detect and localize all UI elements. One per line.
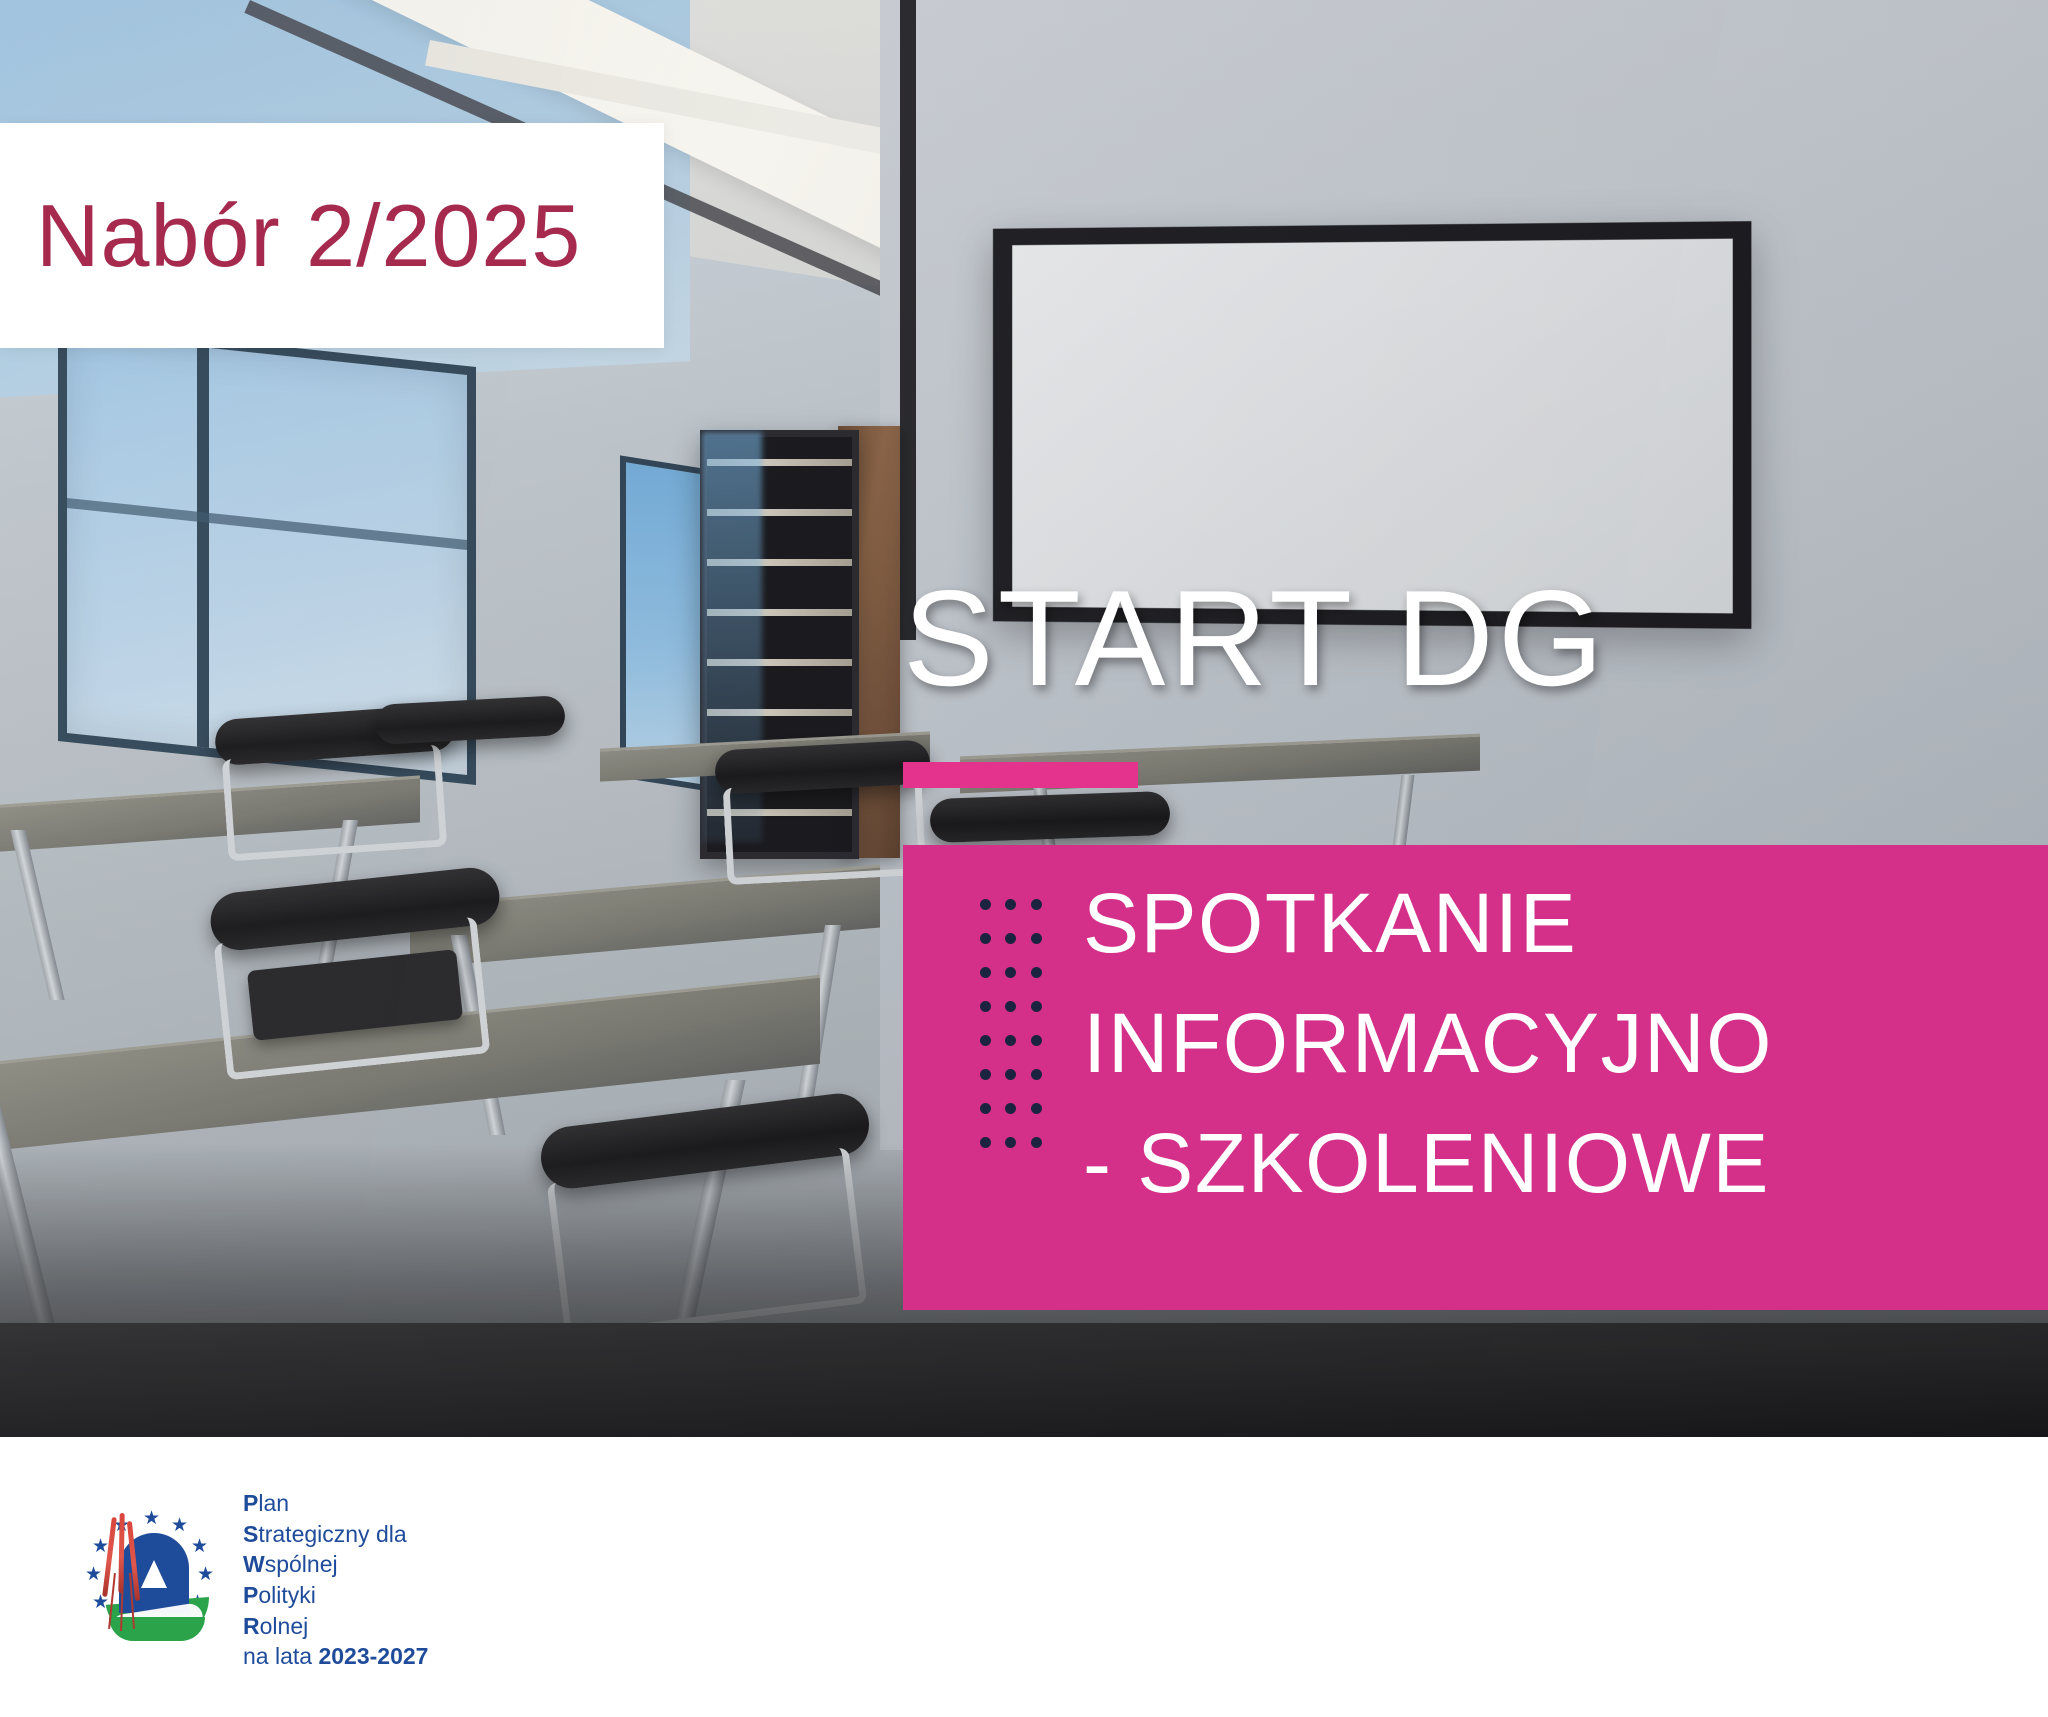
- logo-ps-wpr: ★ ★ ★ ★ ★ ★ ★ ★ ★ ★: [75, 1488, 428, 1671]
- ps-wpr-emblem-icon: ★ ★ ★ ★ ★ ★ ★ ★ ★ ★: [75, 1505, 225, 1655]
- footer-logo-bar: ★ ★ ★ ★ ★ ★ ★ ★ ★ ★: [0, 1443, 2048, 1717]
- dot-grid-decoration: [973, 887, 1049, 1159]
- chair-arm: [723, 778, 927, 885]
- poster: Nabór 2/2025 START DG SPOTKANIE INFORMAC…: [0, 0, 2048, 1717]
- wheat-ears-icon: [97, 1511, 149, 1651]
- subtitle-line-1: SPOTKANIE: [1083, 863, 2040, 983]
- ps-wpr-text: Plan Strategiczny dla Wspólnej Polityki …: [243, 1488, 428, 1671]
- subtitle-line-2: INFORMACYJNO: [1083, 983, 2040, 1103]
- title-underline-rule: [903, 762, 1138, 788]
- ps-wpr-years: 2023-2027: [318, 1643, 428, 1669]
- wall-dark-column: [900, 0, 916, 640]
- subtitle-line-3: - SZKOLENIOWE: [1083, 1103, 2040, 1223]
- whiteboard-surface: [1012, 239, 1733, 614]
- window-mullion-horizontal: [67, 498, 467, 550]
- window-mullion-vertical: [197, 347, 209, 748]
- subtitle-panel: SPOTKANIE INFORMACYJNO - SZKOLENIOWE: [903, 845, 2048, 1310]
- subtitle-text-block: SPOTKANIE INFORMACYJNO - SZKOLENIOWE: [1083, 863, 2040, 1223]
- nabor-badge: Nabór 2/2025: [0, 123, 664, 348]
- chair: [929, 791, 1170, 843]
- floor: [0, 1323, 2048, 1443]
- page-title: START DG: [903, 570, 1608, 706]
- nabor-label: Nabór 2/2025: [36, 192, 581, 280]
- chair-arm: [222, 744, 448, 861]
